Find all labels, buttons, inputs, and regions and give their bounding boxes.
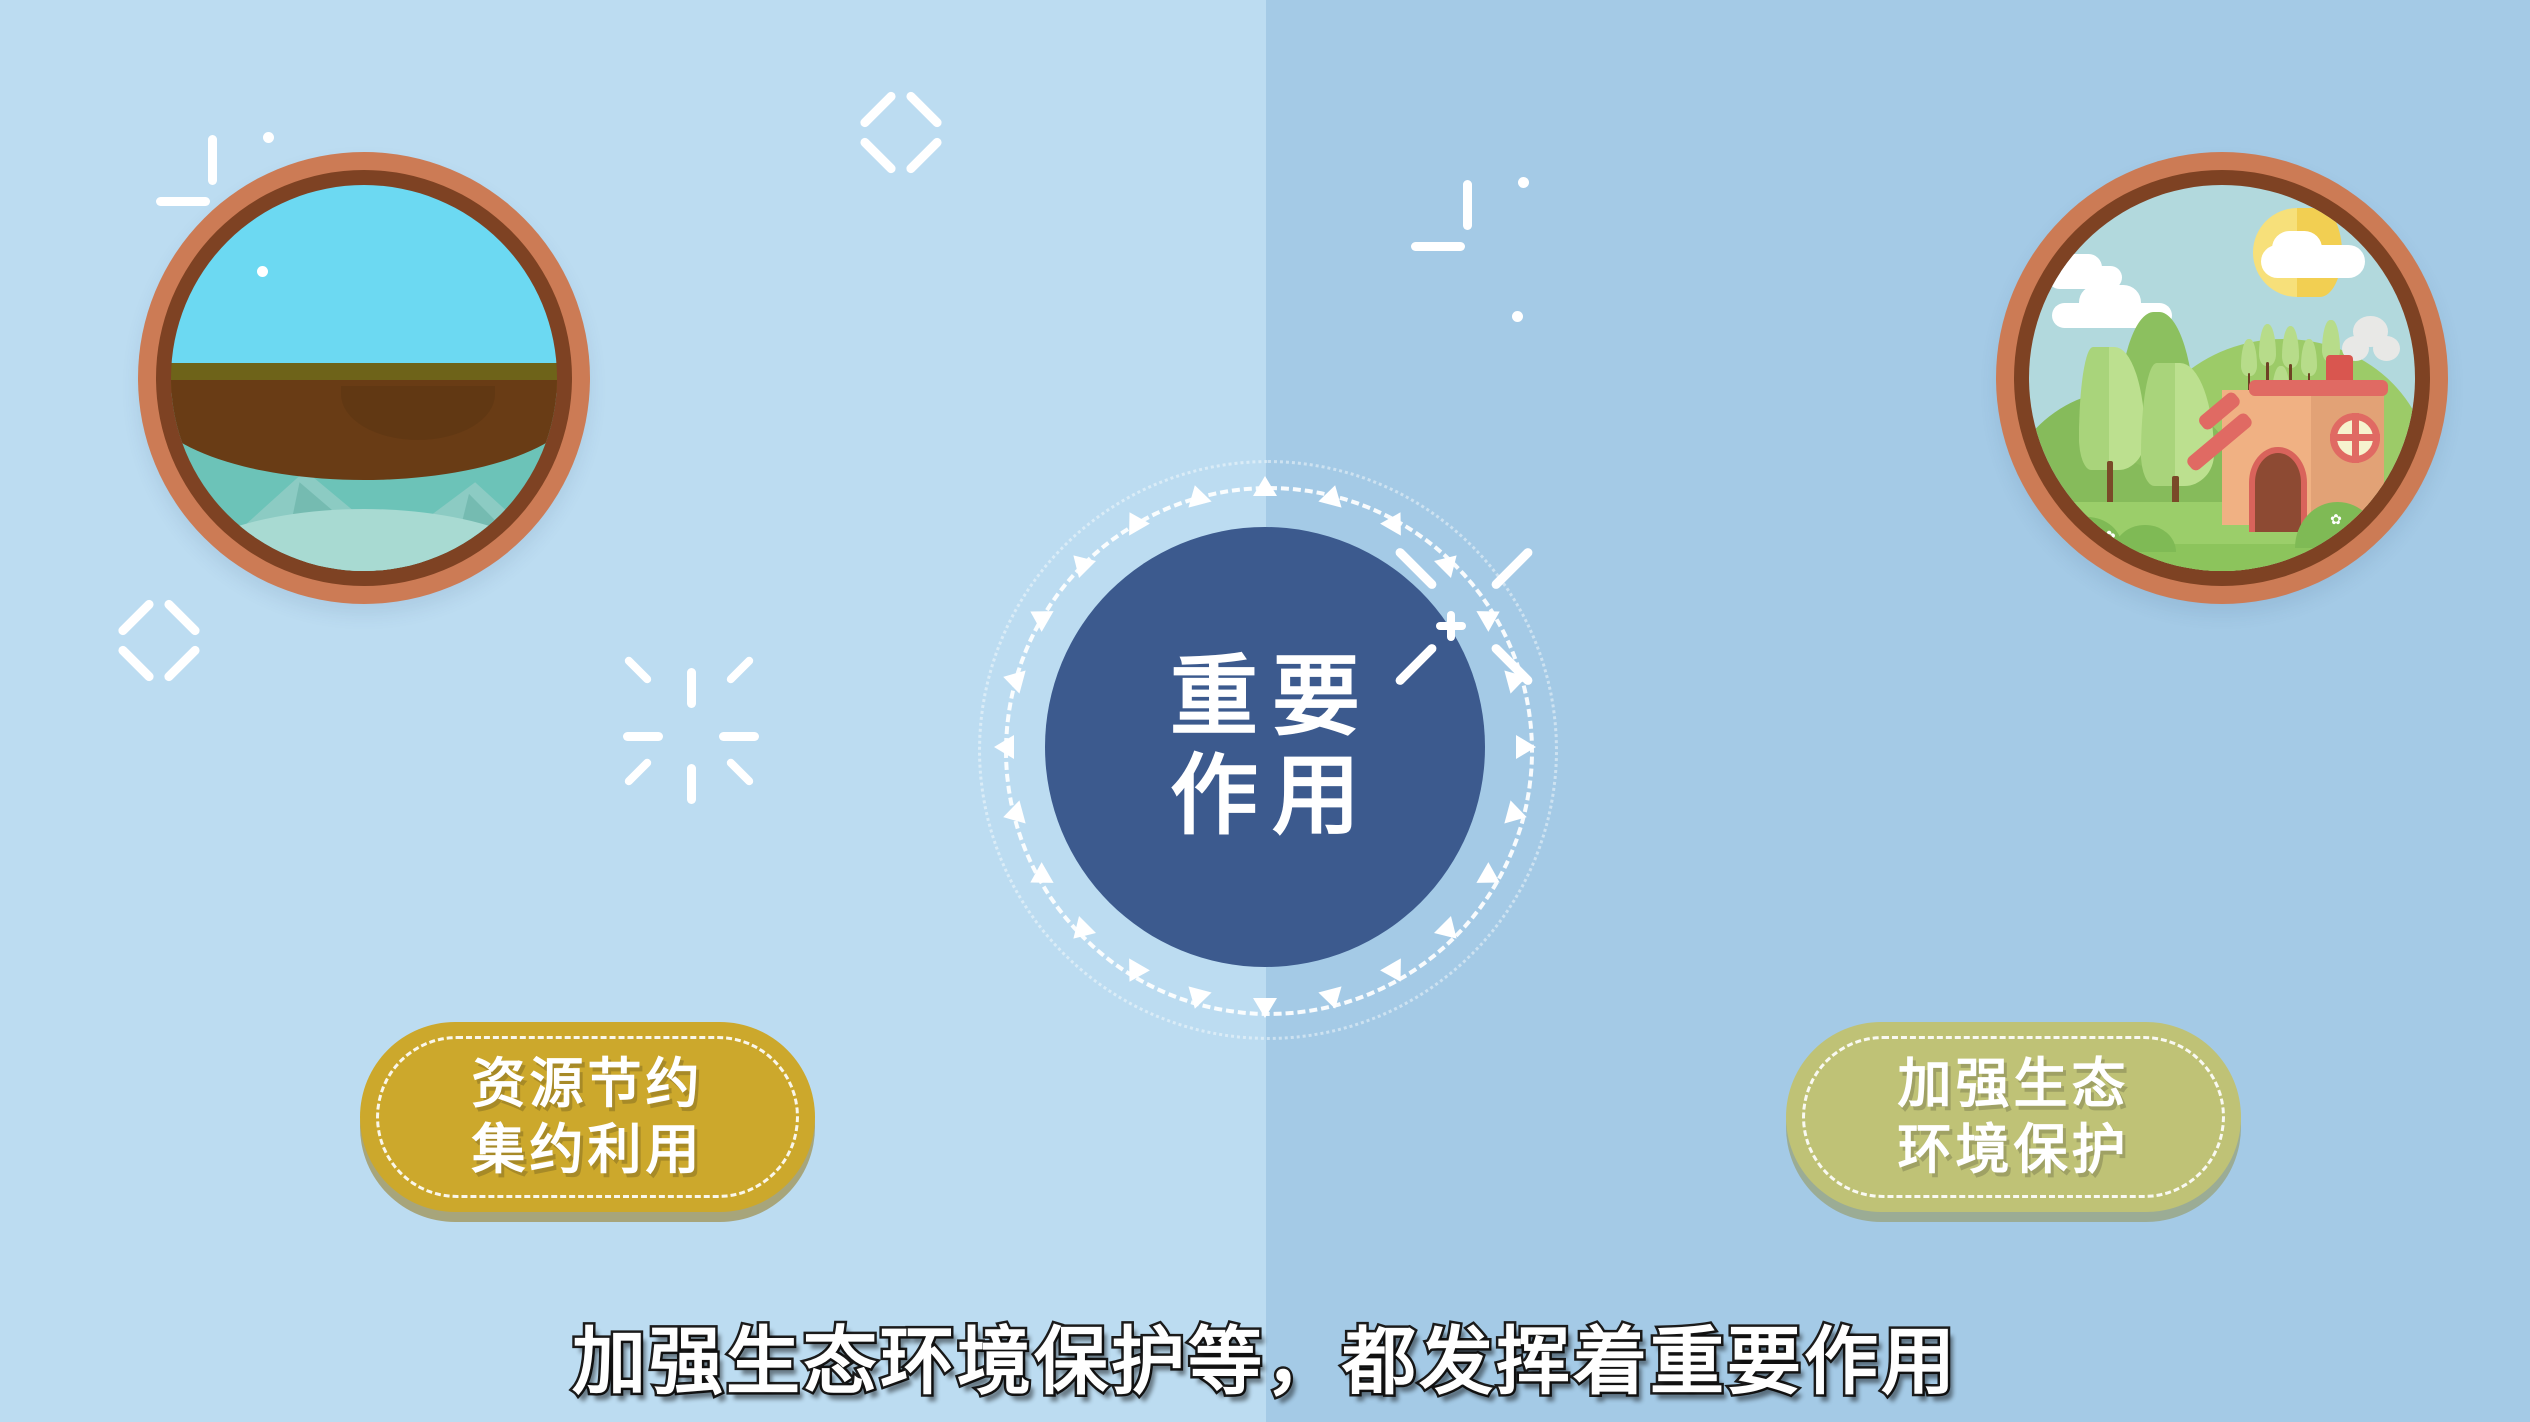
pill-label-line2: 集约利用 [472,1117,704,1183]
resource-conservation-label[interactable]: 资源节约 集约利用 [360,1022,815,1212]
house-roof-ridge [2249,380,2388,396]
sparkle-dot [263,132,274,143]
flower-icon: ✿ [2060,509,2072,523]
subtitle-caption: 加强生态环境保护等，都发挥着重要作用 [0,1302,2530,1409]
sparkle-plus-bottom-right [1450,625,1452,627]
pill-label-line1: 资源节约 [472,1051,704,1117]
sparkle-dash-top-left [185,190,187,192]
badge-text-line2: 作用 [1156,747,1374,846]
pill-label-line1: 加强生态 [1898,1051,2130,1117]
tree-left [2079,347,2145,509]
ecological-protection-label[interactable]: 加强生态 环境保护 [1786,1022,2241,1212]
chimney-smoke [2373,336,2400,361]
ground-meadow-front [2029,544,2415,571]
resource-conservation-medallion[interactable] [138,152,590,604]
flower-icon: ✿ [2330,513,2342,527]
flower-icon: ✿ [2102,529,2115,545]
window-bar-vertical [2352,413,2359,463]
cloud-mid-left-puff [2079,285,2141,320]
water-soil-scene [171,185,557,571]
sparkle-star-bottom-center [690,735,692,737]
cloud-upper-right-puff [2272,231,2322,266]
ecological-protection-medallion[interactable]: ✿ ✿ ✿ [1996,152,2448,604]
sparkle-dot [1518,177,1529,188]
countryside-scene: ✿ ✿ ✿ [2029,185,2415,571]
cloud-upper-left-puff [2060,254,2102,281]
slide-canvas: ✿ ✿ ✿ 重要 作用 资源节约 集约利用 加强生态 环境保护 加强生态环境保护… [0,0,2530,1422]
sparkle-x-top-center [890,140,892,142]
scene-sky [171,185,557,363]
house-door[interactable] [2249,447,2307,532]
badge-text-line1: 重要 [1156,648,1374,747]
sparkle-dot [257,266,268,277]
sparkle-dash-top-right [1440,235,1442,237]
pill-label-line2: 环境保护 [1898,1117,2130,1183]
important-role-badge[interactable]: 重要 作用 [980,462,1550,1032]
sparkle-x-bottom-left [148,648,150,650]
sparkle-dot [1512,311,1523,322]
badge-disc: 重要 作用 [1045,527,1485,967]
